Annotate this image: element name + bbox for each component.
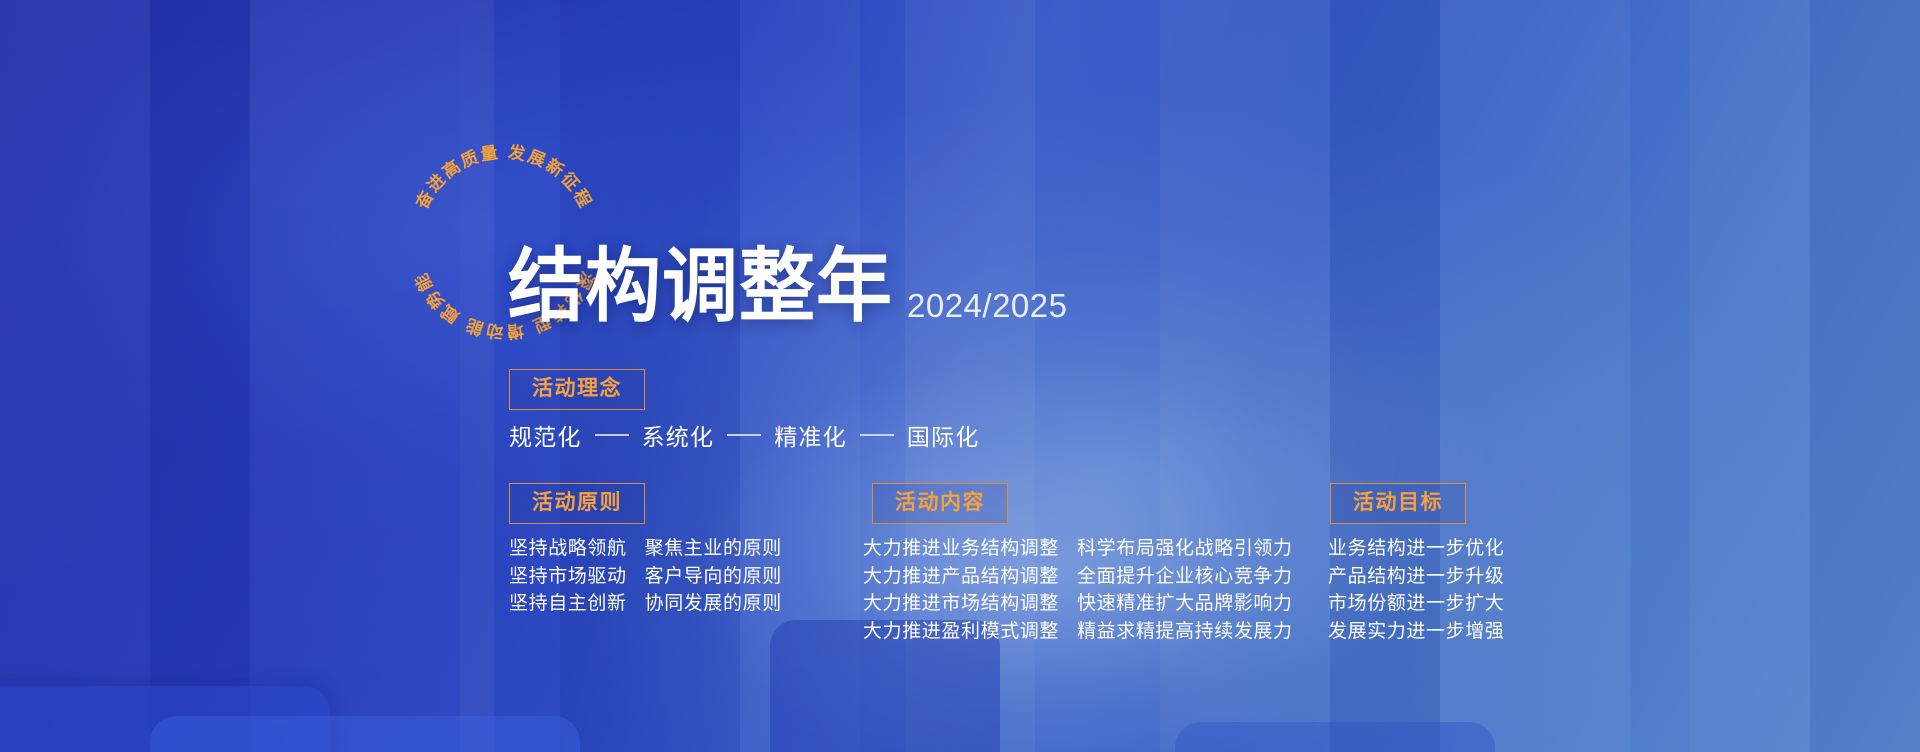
bg-stripe <box>250 0 460 752</box>
content-left: 大力推进市场结构调整 <box>863 590 1059 618</box>
ring-top-label: 奋进高质量 发展新征程 <box>411 142 595 214</box>
chip-content-label: 活动内容 <box>895 491 985 515</box>
chip-principles: 活动原则 <box>509 483 645 524</box>
goal-text: 发展实力进一步增强 <box>1328 618 1504 646</box>
list-item: 大力推进市场结构调整 快速精准扩大品牌影响力 <box>863 590 1293 618</box>
bg-stripe <box>0 0 150 752</box>
year-range: 2024/2025 <box>907 289 1068 328</box>
list-item: 坚持市场驱动 客户导向的原则 <box>509 563 782 591</box>
concept-divider <box>727 434 761 436</box>
content-left: 大力推进产品结构调整 <box>863 563 1059 591</box>
concept-item: 精准化 <box>774 418 847 452</box>
list-item: 大力推进盈利模式调整 精益求精提高持续发展力 <box>863 618 1293 646</box>
decorative-block <box>0 686 330 752</box>
list-item: 业务结构进一步优化 <box>1328 535 1504 563</box>
bg-stripe <box>150 0 250 752</box>
principle-left: 坚持自主创新 <box>509 590 627 618</box>
concept-list: 规范化 系统化 精准化 国际化 <box>509 418 979 452</box>
principle-left: 坚持市场驱动 <box>509 563 627 591</box>
chip-principles-label: 活动原则 <box>532 491 622 515</box>
content-right: 科学布局强化战略引领力 <box>1077 535 1293 563</box>
page-title: 结构调整年 <box>508 247 893 328</box>
promo-banner: 奋进高质量 发展新征程 深化转型 增动能 赋势能 结构调整年 2024/2025… <box>0 0 1920 752</box>
chip-content: 活动内容 <box>872 483 1008 524</box>
list-item: 坚持自主创新 协同发展的原则 <box>509 590 782 618</box>
chip-concept: 活动理念 <box>509 369 645 410</box>
principle-right: 客户导向的原则 <box>645 563 782 591</box>
goal-text: 市场份额进一步扩大 <box>1328 590 1504 618</box>
bg-stripe <box>1810 0 1920 752</box>
decorative-block <box>1175 722 1495 752</box>
goal-text: 业务结构进一步优化 <box>1328 535 1504 563</box>
bg-stripe <box>460 0 494 752</box>
goals-column: 业务结构进一步优化 产品结构进一步升级 市场份额进一步扩大 发展实力进一步增强 <box>1328 535 1504 645</box>
chip-concept-label: 活动理念 <box>532 377 622 401</box>
headline: 结构调整年 2024/2025 <box>508 252 1068 328</box>
content-left: 大力推进盈利模式调整 <box>863 618 1059 646</box>
concept-divider <box>595 434 629 436</box>
list-item: 产品结构进一步升级 <box>1328 563 1504 591</box>
principle-right: 聚焦主业的原则 <box>645 535 782 563</box>
content-left: 大力推进业务结构调整 <box>863 535 1059 563</box>
list-item: 坚持战略领航 聚焦主业的原则 <box>509 535 782 563</box>
decorative-block <box>150 716 580 752</box>
principle-left: 坚持战略领航 <box>509 535 627 563</box>
ring-text-top: 奋进高质量 发展新征程 <box>411 142 595 214</box>
content-right: 快速精准扩大品牌影响力 <box>1077 590 1293 618</box>
concept-divider <box>860 434 894 436</box>
content-column: 大力推进业务结构调整 科学布局强化战略引领力 大力推进产品结构调整 全面提升企业… <box>863 535 1293 645</box>
principles-column: 坚持战略领航 聚焦主业的原则 坚持市场驱动 客户导向的原则 坚持自主创新 协同发… <box>509 535 782 618</box>
list-item: 市场份额进一步扩大 <box>1328 590 1504 618</box>
concept-item: 系统化 <box>642 418 715 452</box>
goal-text: 产品结构进一步升级 <box>1328 563 1504 591</box>
concept-item: 国际化 <box>907 418 980 452</box>
content-right: 全面提升企业核心竞争力 <box>1077 563 1293 591</box>
list-item: 大力推进产品结构调整 全面提升企业核心竞争力 <box>863 563 1293 591</box>
concept-item: 规范化 <box>509 418 582 452</box>
bg-stripe <box>1690 0 1810 752</box>
bg-stripe <box>740 0 860 752</box>
list-item: 大力推进业务结构调整 科学布局强化战略引领力 <box>863 535 1293 563</box>
content-right: 精益求精提高持续发展力 <box>1077 618 1293 646</box>
list-item: 发展实力进一步增强 <box>1328 618 1504 646</box>
principle-right: 协同发展的原则 <box>645 590 782 618</box>
chip-goals: 活动目标 <box>1330 483 1466 524</box>
chip-goals-label: 活动目标 <box>1353 491 1443 515</box>
